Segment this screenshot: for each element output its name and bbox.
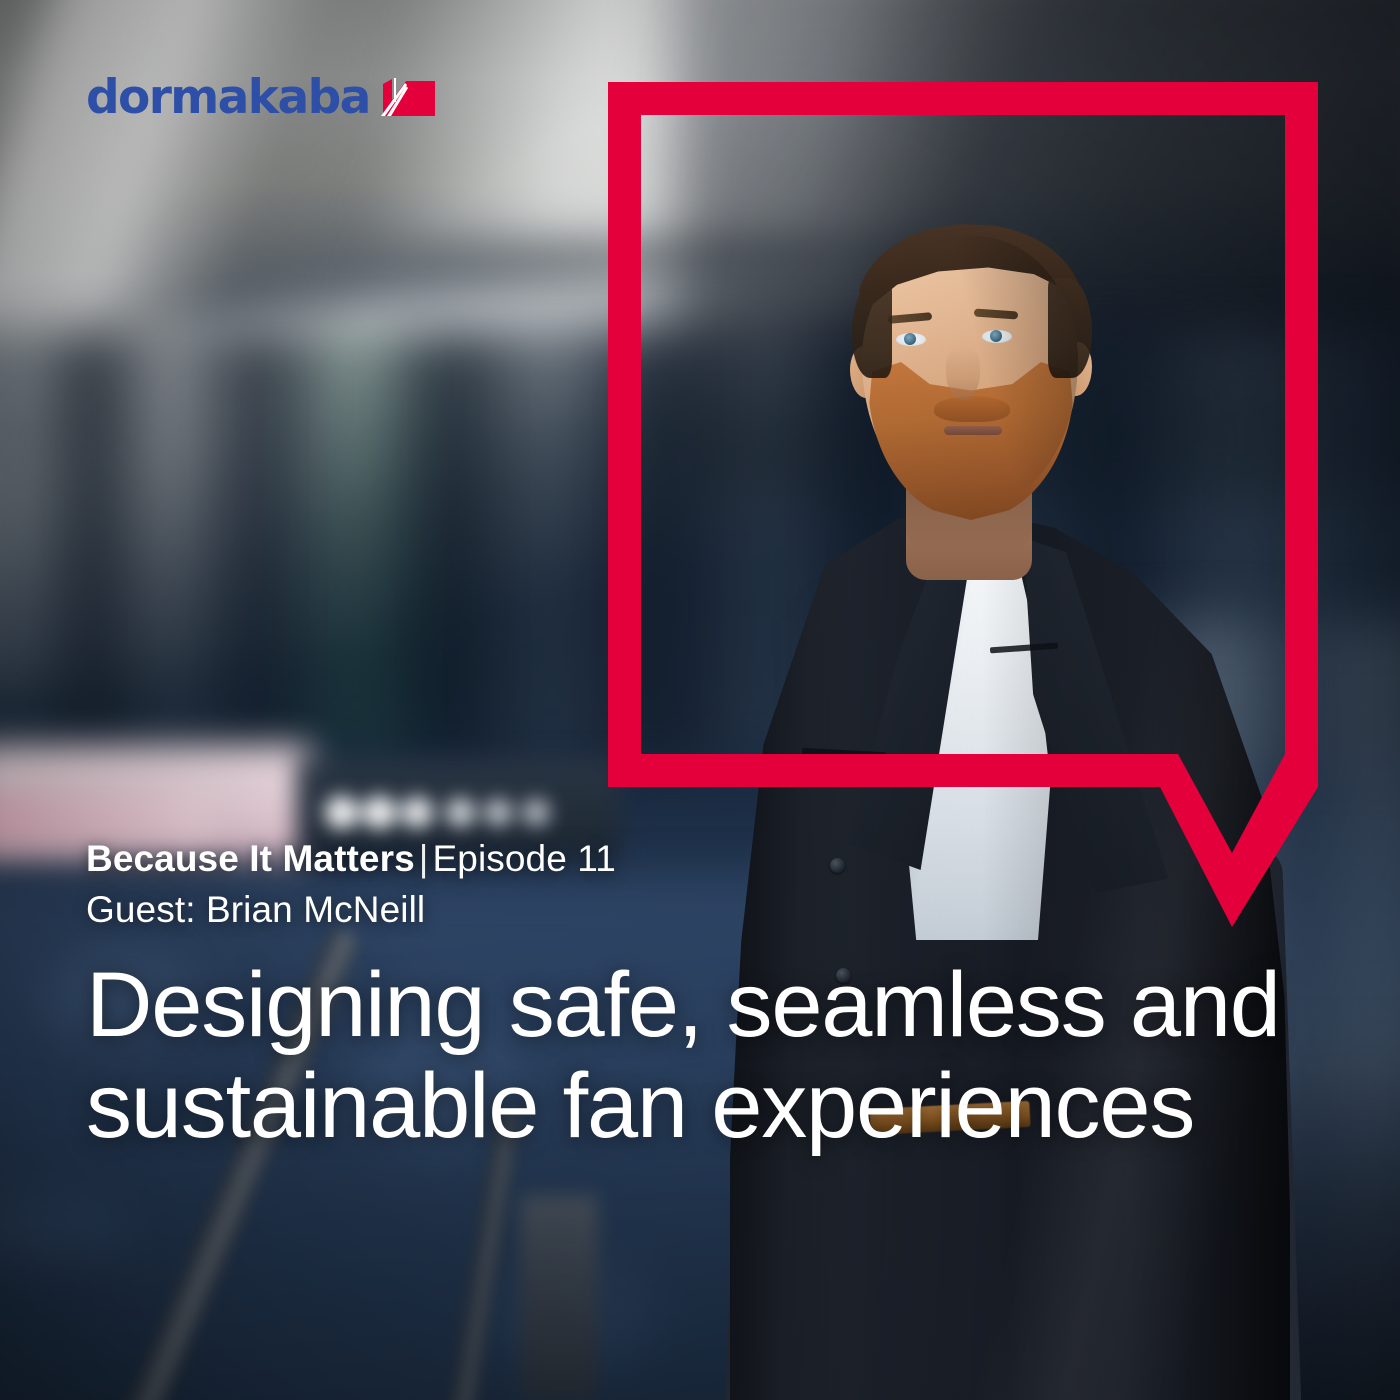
show-title: Because It Matters [86, 838, 415, 879]
episode-eyebrow: Because It Matters|Episode 11 [86, 836, 1326, 882]
dormakaba-wordmark: dormakaba [86, 74, 370, 121]
dormakaba-fan-mark-icon [379, 76, 435, 120]
guest-line: Guest: Brian McNeill [86, 886, 1326, 933]
dormakaba-logo[interactable]: dormakaba [86, 74, 435, 121]
eyebrow-separator: | [415, 838, 433, 879]
episode-number: Episode 11 [433, 838, 616, 879]
podcast-cover-art: dormakaba Because It Matters|Episode 11 … [0, 0, 1400, 1400]
portrait-face-shading [862, 236, 1078, 504]
cover-text-block: Because It Matters|Episode 11 Guest: Bri… [86, 836, 1326, 1156]
episode-title: Designing safe, seamless and sustainable… [86, 955, 1296, 1156]
guest-portrait [690, 150, 1310, 1400]
